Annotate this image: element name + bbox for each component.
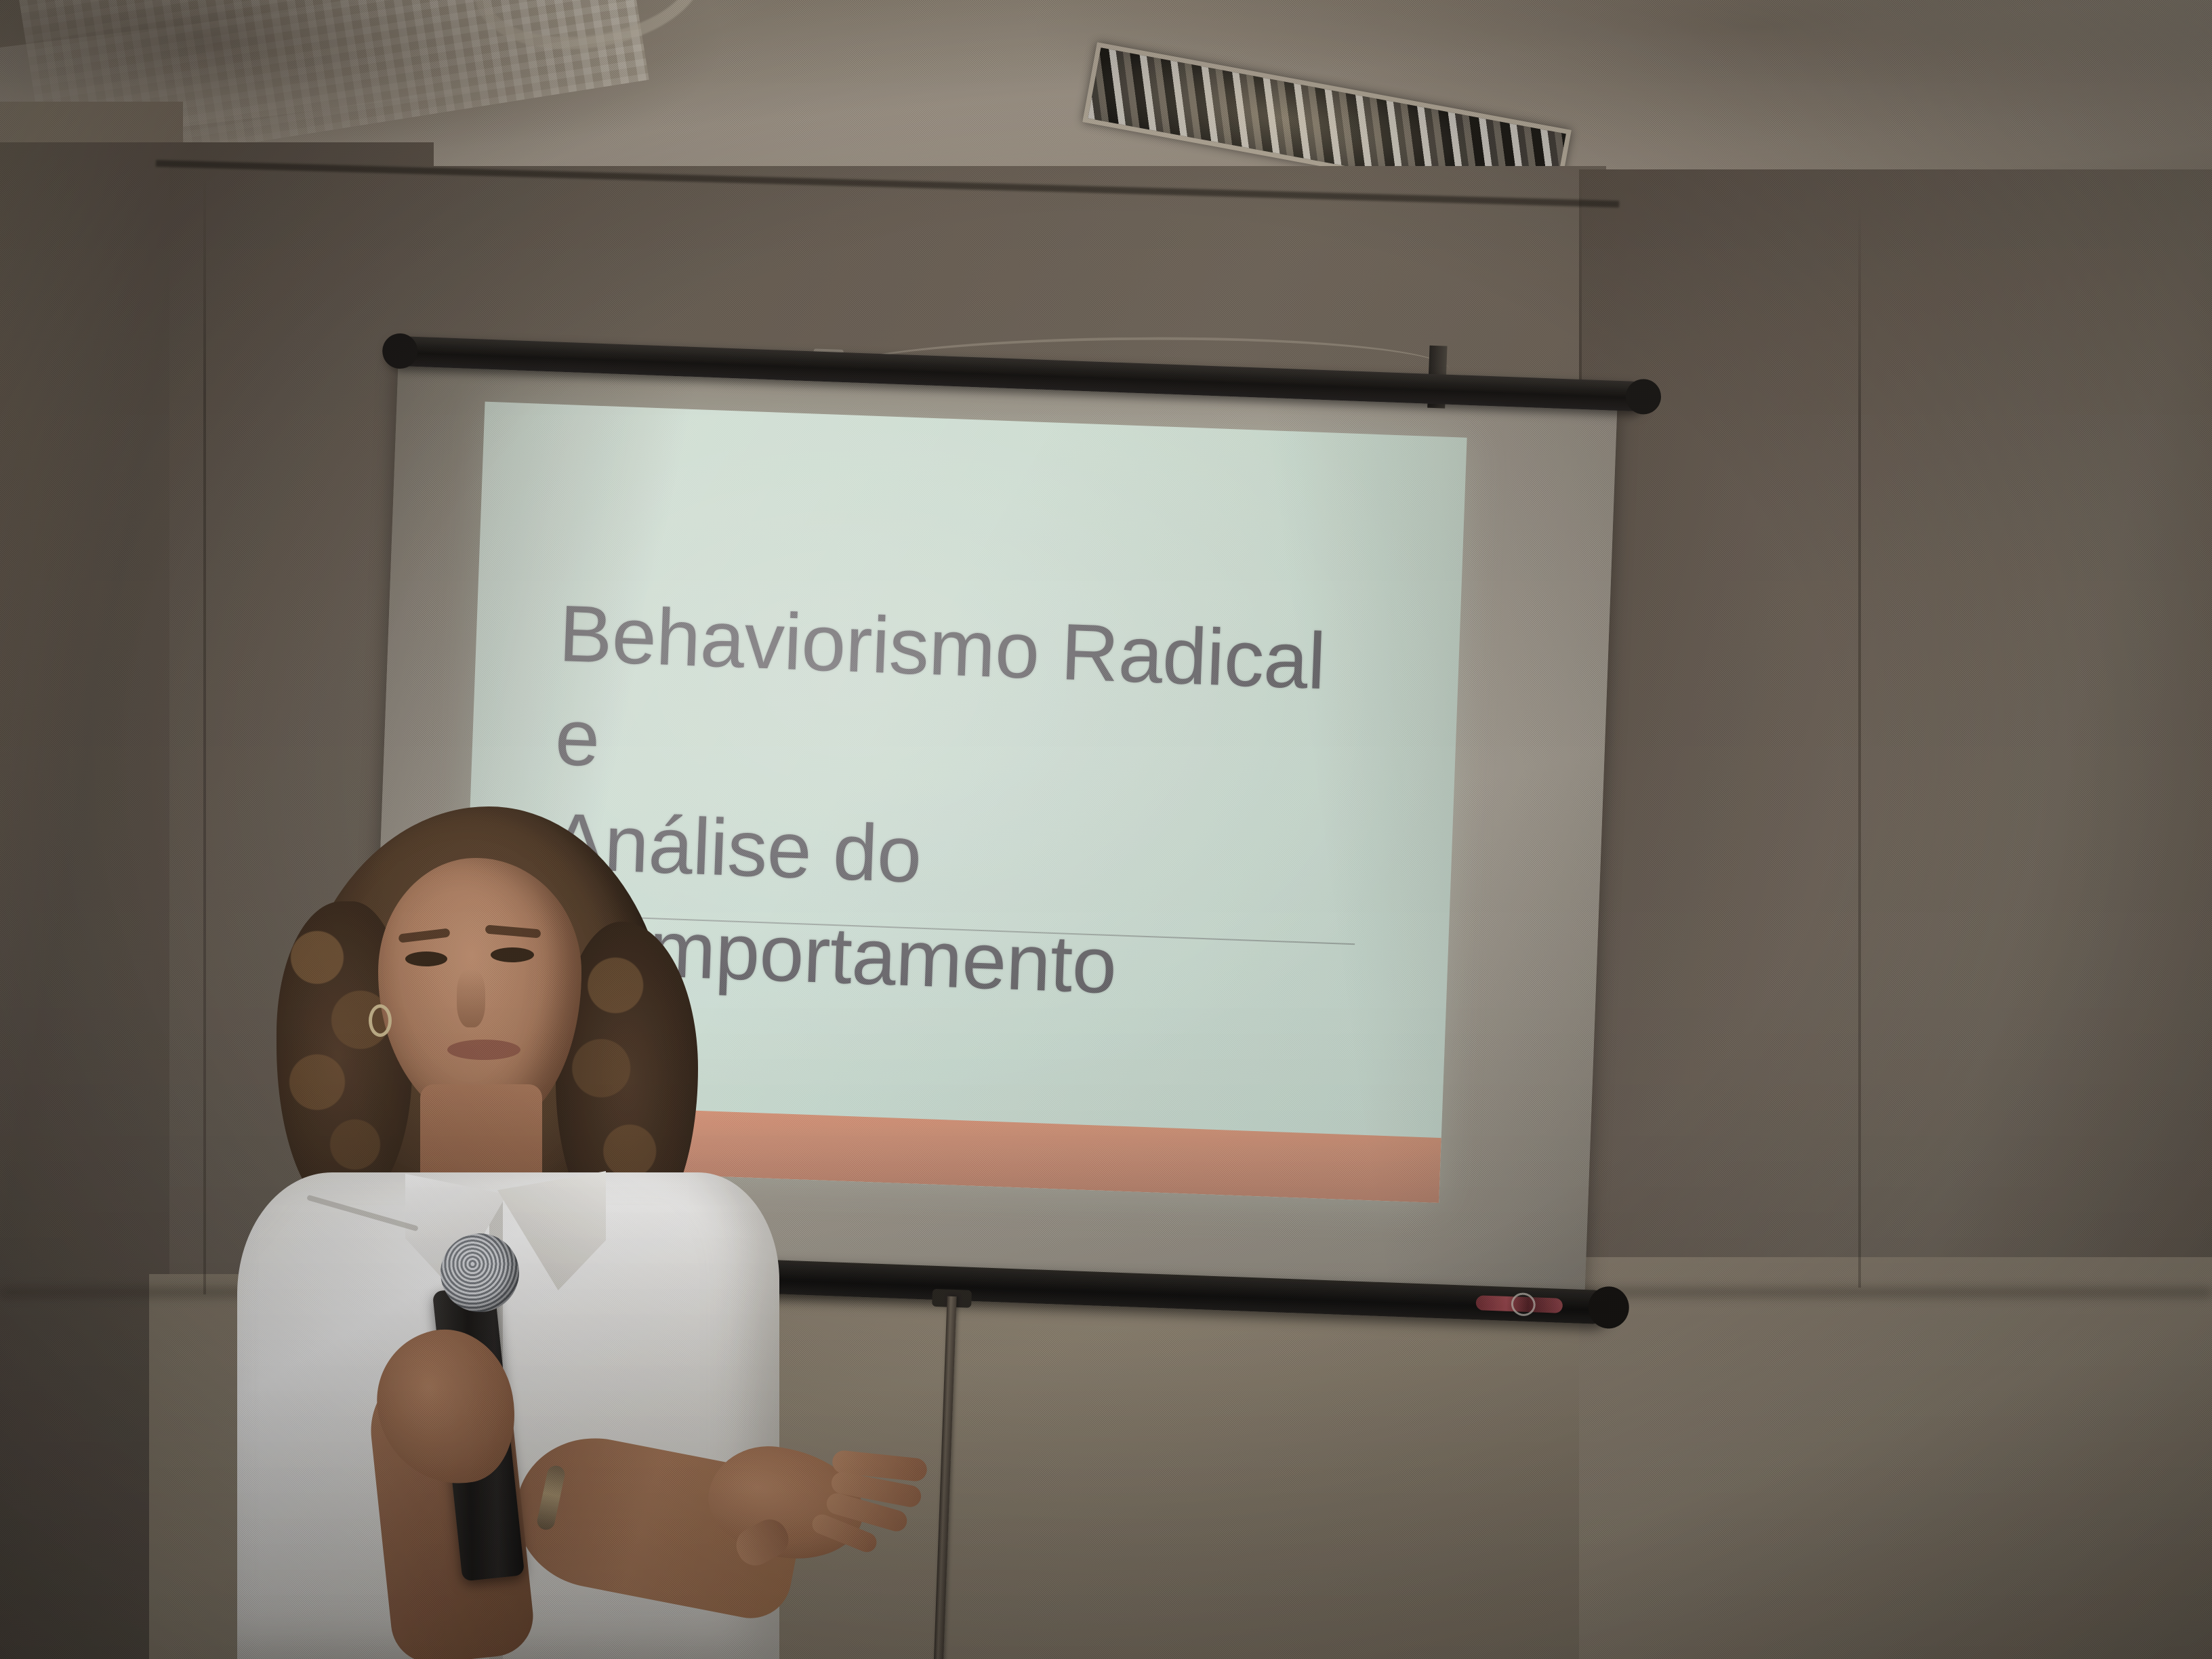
wall-seam-1: [203, 169, 206, 1294]
mouth: [447, 1040, 520, 1060]
wall-right-lower: [1579, 1257, 2212, 1659]
hoop-earring-icon: [369, 1004, 392, 1037]
eye-right: [491, 947, 534, 962]
presentation-photo: Behaviorismo Radical e Análise do Compor…: [0, 0, 2212, 1659]
eye-left: [405, 951, 447, 966]
presenter: [224, 766, 1037, 1659]
wall-seam-3: [1858, 203, 1861, 1288]
nose: [457, 969, 485, 1027]
